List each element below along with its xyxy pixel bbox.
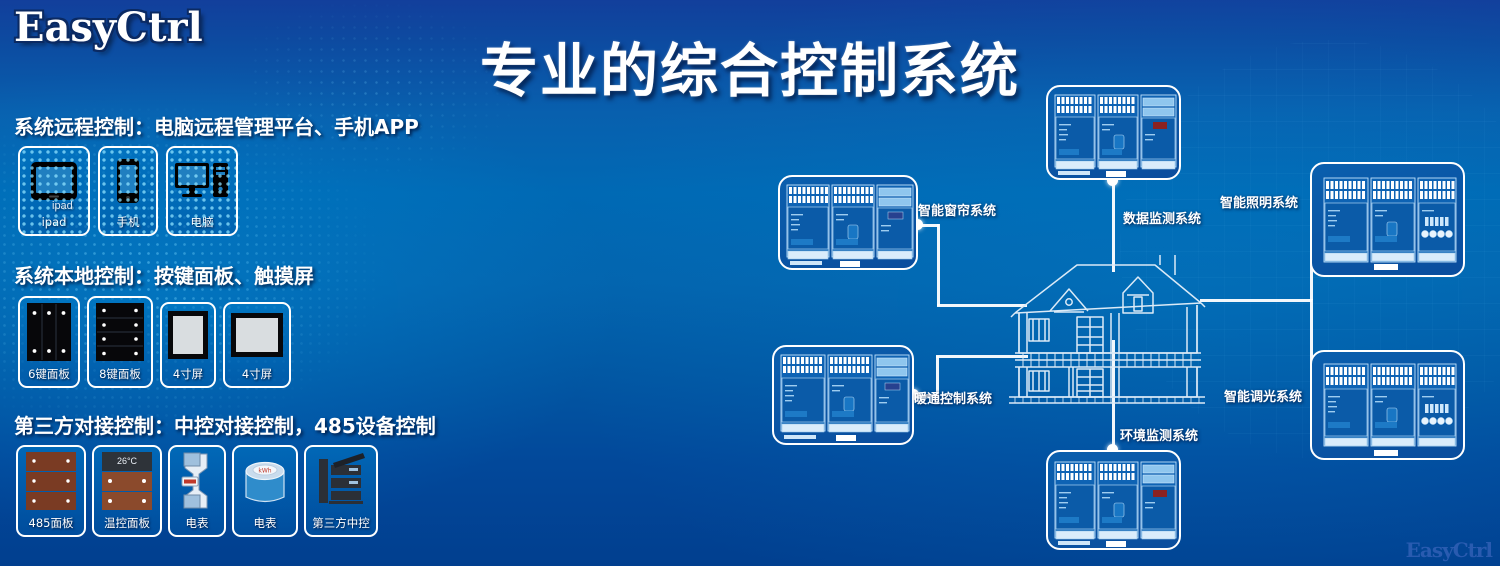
section-heading-thirdparty: 第三方对接控制：中控对接控制，485设备控制 bbox=[14, 410, 436, 439]
four-inch-screen-wide-icon bbox=[225, 304, 289, 366]
card-label: 4寸屏 bbox=[242, 366, 272, 387]
brand-watermark: EasyCtrl bbox=[1406, 538, 1492, 562]
system-topology-diagram: 智能窗帘系统 数据监测系统 智能照明系统 暖通控制系统 智能调光系统 环境监测系… bbox=[700, 0, 1500, 566]
controller-module-curtain[interactable] bbox=[778, 175, 918, 270]
card-label: 电脑 bbox=[191, 214, 214, 235]
device-card-4inch-screen-a[interactable]: 4寸屏 bbox=[160, 302, 216, 388]
device-card-phone[interactable]: 手机 bbox=[98, 146, 158, 236]
villa-house-illustration bbox=[1005, 255, 1210, 405]
third-party-controller-icon bbox=[306, 447, 376, 515]
device-card-ipad[interactable]: ipad bbox=[18, 146, 90, 236]
round-meter-icon: kWh bbox=[234, 447, 296, 515]
diagram-label-dimming: 智能调光系统 bbox=[1224, 386, 1302, 405]
wire-lighting-a bbox=[1200, 299, 1312, 302]
card-label: 温控面板 bbox=[104, 515, 150, 536]
controller-module-hvac[interactable] bbox=[772, 345, 914, 445]
device-card-8key-panel[interactable]: 8键面板 bbox=[87, 296, 153, 388]
card-label: 第三方中控 bbox=[312, 515, 370, 536]
smartphone-icon bbox=[100, 148, 156, 214]
diagram-label-hvac: 暖通控制系统 bbox=[914, 388, 992, 407]
card-label: 4寸屏 bbox=[173, 366, 203, 387]
card-label: 6键面板 bbox=[28, 366, 70, 387]
section-heading-remote: 系统远程控制：电脑远程管理平台、手机APP bbox=[14, 111, 419, 140]
device-card-duct-meter[interactable]: 电表 bbox=[168, 445, 226, 537]
device-card-6key-panel[interactable]: 6键面板 bbox=[18, 296, 80, 388]
slide-canvas: EasyCtrl 专业的综合控制系统 系统远程控制：电脑远程管理平台、手机APP… bbox=[0, 0, 1500, 566]
four-inch-screen-icon bbox=[162, 304, 214, 366]
rs485-panel-icon bbox=[18, 447, 84, 515]
eight-key-panel-icon bbox=[89, 298, 151, 366]
card-label: 485面板 bbox=[29, 515, 74, 536]
desktop-computer-icon bbox=[168, 148, 236, 214]
thermostat-panel-icon: 26°C bbox=[94, 447, 160, 515]
card-label: 电表 bbox=[186, 515, 209, 536]
diagram-label-curtain: 智能窗帘系统 bbox=[918, 200, 996, 219]
device-card-pc[interactable]: 电脑 bbox=[166, 146, 238, 236]
six-key-panel-icon bbox=[20, 298, 78, 366]
controller-module-environment[interactable] bbox=[1046, 450, 1181, 550]
svg-text:kWh: kWh bbox=[258, 467, 271, 474]
diagram-label-lighting: 智能照明系统 bbox=[1220, 192, 1298, 211]
device-card-4inch-screen-b[interactable]: 4寸屏 bbox=[223, 302, 291, 388]
card-label: ipad bbox=[42, 214, 67, 235]
duct-meter-icon bbox=[170, 447, 224, 515]
device-card-thermostat-panel[interactable]: 26°C 温控面板 bbox=[92, 445, 162, 537]
device-card-round-meter[interactable]: kWh 电表 bbox=[232, 445, 298, 537]
device-card-485-panel[interactable]: 485面板 bbox=[16, 445, 86, 537]
ipad-ghost-label: ipad bbox=[52, 200, 73, 212]
device-card-third-party-controller[interactable]: 第三方中控 bbox=[304, 445, 378, 537]
controller-module-lighting[interactable] bbox=[1310, 162, 1465, 277]
card-label: 8键面板 bbox=[99, 366, 141, 387]
brand-logo: EasyCtrl bbox=[14, 4, 203, 51]
controller-module-data-monitoring[interactable] bbox=[1046, 85, 1181, 180]
diagram-label-data: 数据监测系统 bbox=[1123, 208, 1201, 227]
diagram-label-environment: 环境监测系统 bbox=[1120, 425, 1198, 444]
section-heading-local: 系统本地控制：按键面板、触摸屏 bbox=[14, 260, 314, 289]
card-label: 手机 bbox=[117, 214, 140, 235]
controller-module-dimming[interactable] bbox=[1310, 350, 1465, 460]
thermostat-display-value: 26°C bbox=[102, 452, 152, 471]
wire-curtain-b bbox=[937, 224, 940, 306]
card-label: 电表 bbox=[254, 515, 277, 536]
